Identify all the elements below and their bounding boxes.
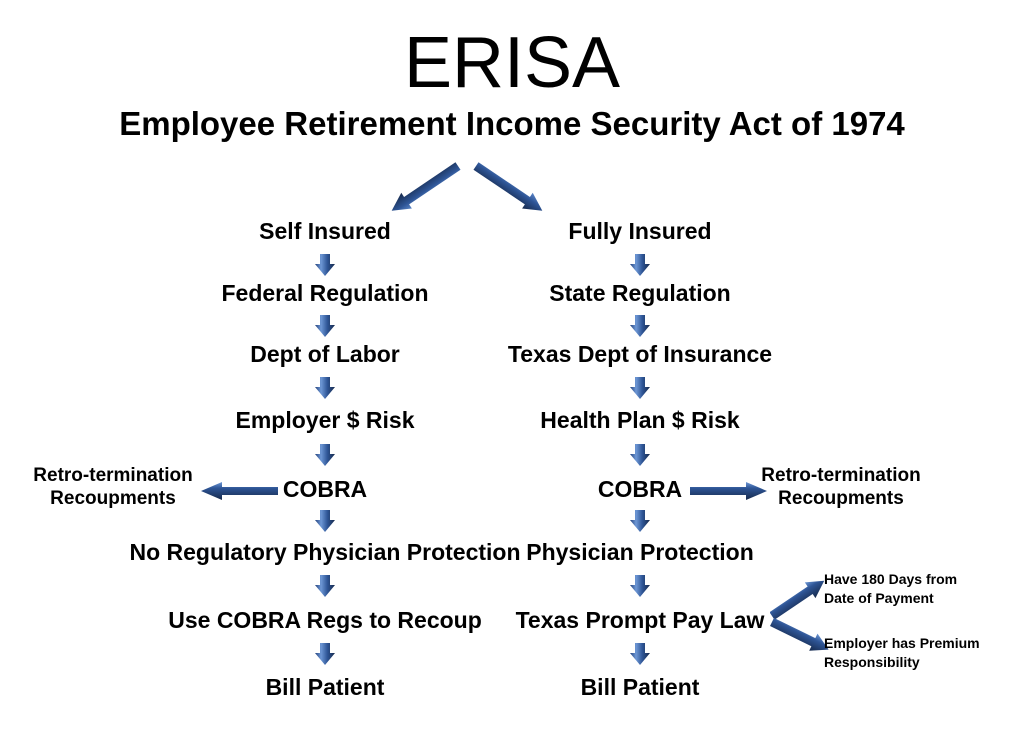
node-texas-dept-of-insurance: Texas Dept of Insurance xyxy=(508,341,772,367)
note-line1: Employer has Premium xyxy=(824,634,980,653)
node-employer-risk: Employer $ Risk xyxy=(236,407,415,433)
node-cobra-left: COBRA xyxy=(283,476,367,502)
side-label-line2: Recoupments xyxy=(761,487,920,510)
arrow-down-icon xyxy=(312,573,338,599)
node-cobra-right: COBRA xyxy=(598,476,682,502)
arrow-down-icon xyxy=(312,442,338,468)
node-physician-protection: Physician Protection xyxy=(526,539,754,565)
node-fully-insured: Fully Insured xyxy=(568,218,711,244)
node-federal-regulation: Federal Regulation xyxy=(221,280,428,306)
arrow-down-icon xyxy=(627,641,653,667)
side-label-line1: Retro-termination xyxy=(761,464,920,487)
arrow-down-icon xyxy=(627,573,653,599)
erisa-flowchart: ERISA Employee Retirement Income Securit… xyxy=(0,0,1024,736)
node-dept-of-labor: Dept of Labor xyxy=(250,341,400,367)
arrow-down-icon xyxy=(312,252,338,278)
arrow-down-icon xyxy=(627,313,653,339)
node-use-cobra-regs-to-recoup: Use COBRA Regs to Recoup xyxy=(168,607,482,633)
note-line2: Responsibility xyxy=(824,653,980,672)
label-retro-termination-recoupments-left: Retro-termination Recoupments xyxy=(33,464,192,510)
arrow-down-icon xyxy=(627,508,653,534)
node-state-regulation: State Regulation xyxy=(549,280,730,306)
note-employer-has-premium-responsibility: Employer has Premium Responsibility xyxy=(824,634,980,672)
arrow-left-icon xyxy=(200,481,278,501)
arrow-down-icon xyxy=(627,375,653,401)
note-have-180-days: Have 180 Days from Date of Payment xyxy=(824,570,957,608)
side-label-line1: Retro-termination xyxy=(33,464,192,487)
note-line2: Date of Payment xyxy=(824,589,957,608)
arrow-down-icon xyxy=(627,252,653,278)
node-texas-prompt-pay-law: Texas Prompt Pay Law xyxy=(516,607,765,633)
arrow-down-icon xyxy=(627,442,653,468)
node-self-insured: Self Insured xyxy=(259,218,391,244)
node-no-regulatory-physician-protection: No Regulatory Physician Protection xyxy=(129,539,520,565)
arrow-down-icon xyxy=(312,508,338,534)
page-title: ERISA xyxy=(0,24,1024,102)
node-bill-patient-left: Bill Patient xyxy=(266,674,385,700)
arrow-right-icon xyxy=(690,481,768,501)
node-health-plan-risk: Health Plan $ Risk xyxy=(540,407,739,433)
page-subtitle: Employee Retirement Income Security Act … xyxy=(0,104,1024,144)
arrow-down-icon xyxy=(312,375,338,401)
arrow-down-icon xyxy=(312,313,338,339)
node-bill-patient-right: Bill Patient xyxy=(581,674,700,700)
side-label-line2: Recoupments xyxy=(33,487,192,510)
arrow-down-icon xyxy=(312,641,338,667)
note-line1: Have 180 Days from xyxy=(824,570,957,589)
label-retro-termination-recoupments-right: Retro-termination Recoupments xyxy=(761,464,920,510)
